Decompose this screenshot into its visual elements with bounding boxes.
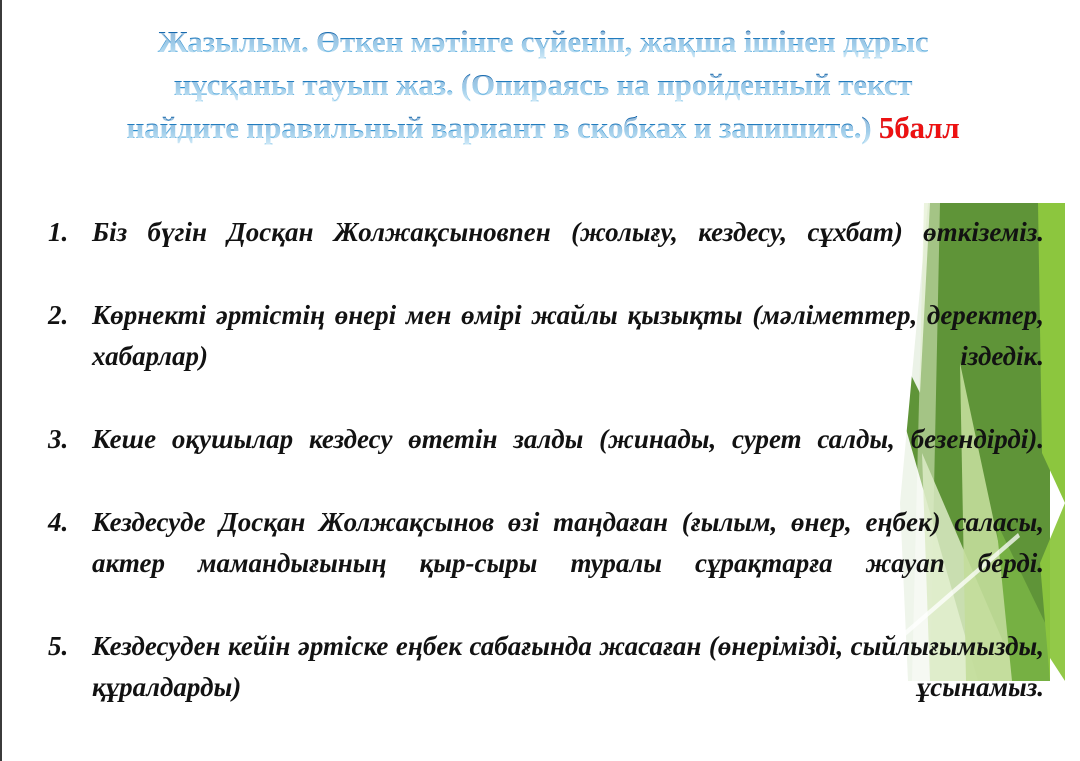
slide-title: Жазылым. Өткен мәтінге сүйеніп, жақша іш… bbox=[28, 20, 1058, 149]
title-line-3-text: найдите правильный вариант в скобках и з… bbox=[127, 110, 879, 145]
list-item-text: Біз бүгін Досқан Жолжақсыновпен (жолығу,… bbox=[92, 212, 1044, 294]
list-item: 1. Біз бүгін Досқан Жолжақсыновпен (жолы… bbox=[48, 212, 1044, 294]
list-item: 4. Кездесуде Досқан Жолжақсынов өзі таңд… bbox=[48, 502, 1044, 625]
list-item: 2. Көрнекті әртістің өнері мен өмірі жай… bbox=[48, 295, 1044, 418]
list-item-text: Кеше оқушылар кездесу өтетін залды (жина… bbox=[92, 419, 1044, 501]
title-line-3: найдите правильный вариант в скобках и з… bbox=[28, 106, 1058, 149]
numbered-task-list: 1. Біз бүгін Досқан Жолжақсыновпен (жолы… bbox=[48, 212, 1044, 750]
list-item-number: 5. bbox=[48, 626, 92, 667]
list-item-number: 4. bbox=[48, 502, 92, 543]
title-line-2: нұсқаны тауып жаз. (Опираясь на пройденн… bbox=[28, 63, 1058, 106]
list-item: 5. Кездесуден кейін әртіске еңбек сабағы… bbox=[48, 626, 1044, 749]
list-item-text: Кездесуден кейін әртіске еңбек сабағында… bbox=[92, 626, 1044, 749]
list-item-text: Көрнекті әртістің өнері мен өмірі жайлы … bbox=[92, 295, 1044, 418]
list-item-number: 3. bbox=[48, 419, 92, 460]
decor-shape-corner-clip bbox=[1050, 658, 1065, 681]
list-item-number: 2. bbox=[48, 295, 92, 336]
list-item: 3. Кеше оқушылар кездесу өтетін залды (ж… bbox=[48, 419, 1044, 501]
slide-canvas: Жазылым. Өткен мәтінге сүйеніп, жақша іш… bbox=[0, 0, 1080, 761]
title-line-1: Жазылым. Өткен мәтінге сүйеніп, жақша іш… bbox=[28, 20, 1058, 63]
list-item-number: 1. bbox=[48, 212, 92, 253]
score-badge: 5балл bbox=[879, 110, 960, 145]
list-item-text: Кездесуде Досқан Жолжақсынов өзі таңдаға… bbox=[92, 502, 1044, 625]
